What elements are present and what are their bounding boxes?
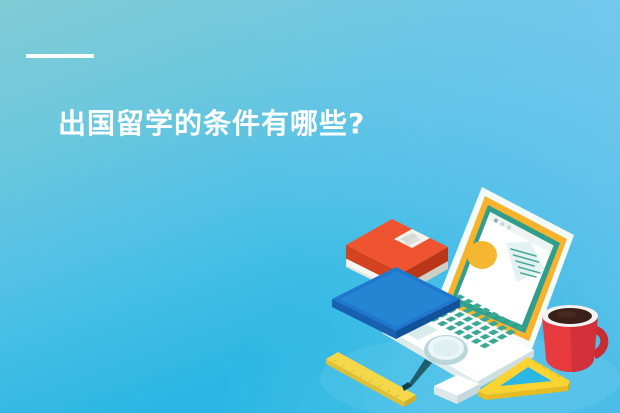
page-title: 出国留学的条件有哪些? — [58, 106, 365, 141]
screen-avatar-circle — [467, 241, 497, 269]
accent-rule-divider — [26, 54, 94, 58]
study-desk-illustration — [320, 183, 620, 413]
article-cover-banner: 出国留学的条件有哪些? — [0, 0, 620, 413]
